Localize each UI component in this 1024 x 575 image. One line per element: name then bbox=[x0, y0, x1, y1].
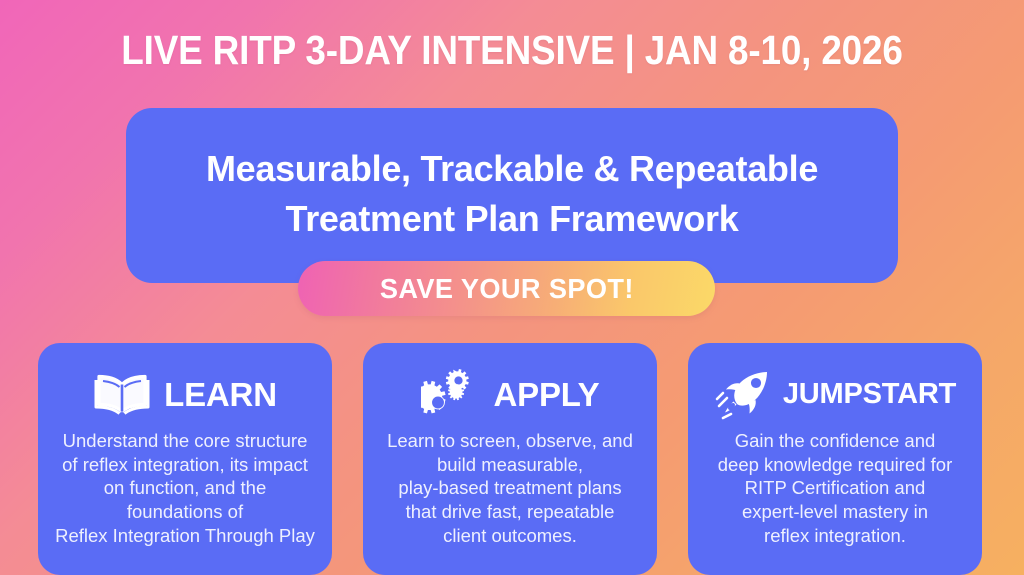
card-line: deep knowledge required for bbox=[698, 453, 972, 477]
card-body-learn: Understand the core structure of reflex … bbox=[48, 429, 322, 547]
card-line: RITP Certification and bbox=[698, 476, 972, 500]
card-line: on function, and the bbox=[48, 476, 322, 500]
card-header-jumpstart: JUMPSTART bbox=[688, 365, 982, 423]
cta-label: SAVE YOUR SPOT! bbox=[380, 273, 634, 305]
card-line: client outcomes. bbox=[373, 524, 647, 548]
card-body-apply: Learn to screen, observe, and build meas… bbox=[373, 429, 647, 547]
card-title-apply: APPLY bbox=[494, 378, 600, 411]
promo-banner: LIVE RITP 3-DAY INTENSIVE | JAN 8-10, 20… bbox=[0, 0, 1024, 575]
card-line: Gain the confidence and bbox=[698, 429, 972, 453]
card-title-learn: LEARN bbox=[164, 378, 277, 411]
card-line: Learn to screen, observe, and bbox=[373, 429, 647, 453]
hero-title: Measurable, Trackable & Repeatable Treat… bbox=[156, 144, 868, 243]
card-line: foundations of bbox=[48, 500, 322, 524]
card-header-learn: LEARN bbox=[38, 365, 332, 423]
card-header-apply: APPLY bbox=[363, 365, 657, 423]
gears-icon bbox=[421, 369, 481, 419]
card-line: reflex integration. bbox=[698, 524, 972, 548]
card-line: Understand the core structure bbox=[48, 429, 322, 453]
rocket-icon bbox=[714, 368, 774, 420]
feature-card-jumpstart: JUMPSTART Gain the confidence and deep k… bbox=[688, 343, 982, 575]
card-line: build measurable, bbox=[373, 453, 647, 477]
card-line: that drive fast, repeatable bbox=[373, 500, 647, 524]
card-line: Reflex Integration Through Play bbox=[48, 524, 322, 548]
card-line: of reflex integration, its impact bbox=[48, 453, 322, 477]
open-book-icon bbox=[93, 373, 151, 415]
card-body-jumpstart: Gain the confidence and deep knowledge r… bbox=[698, 429, 972, 547]
card-line: play-based treatment plans bbox=[373, 476, 647, 500]
hero-card: Measurable, Trackable & Repeatable Treat… bbox=[126, 108, 898, 283]
page-title: LIVE RITP 3-DAY INTENSIVE | JAN 8-10, 20… bbox=[51, 30, 973, 71]
card-title-jumpstart: JUMPSTART bbox=[783, 380, 956, 409]
feature-card-learn: LEARN Understand the core structure of r… bbox=[38, 343, 332, 575]
feature-card-apply: APPLY Learn to screen, observe, and buil… bbox=[363, 343, 657, 575]
save-your-spot-button[interactable]: SAVE YOUR SPOT! bbox=[298, 261, 715, 316]
card-line: expert-level mastery in bbox=[698, 500, 972, 524]
